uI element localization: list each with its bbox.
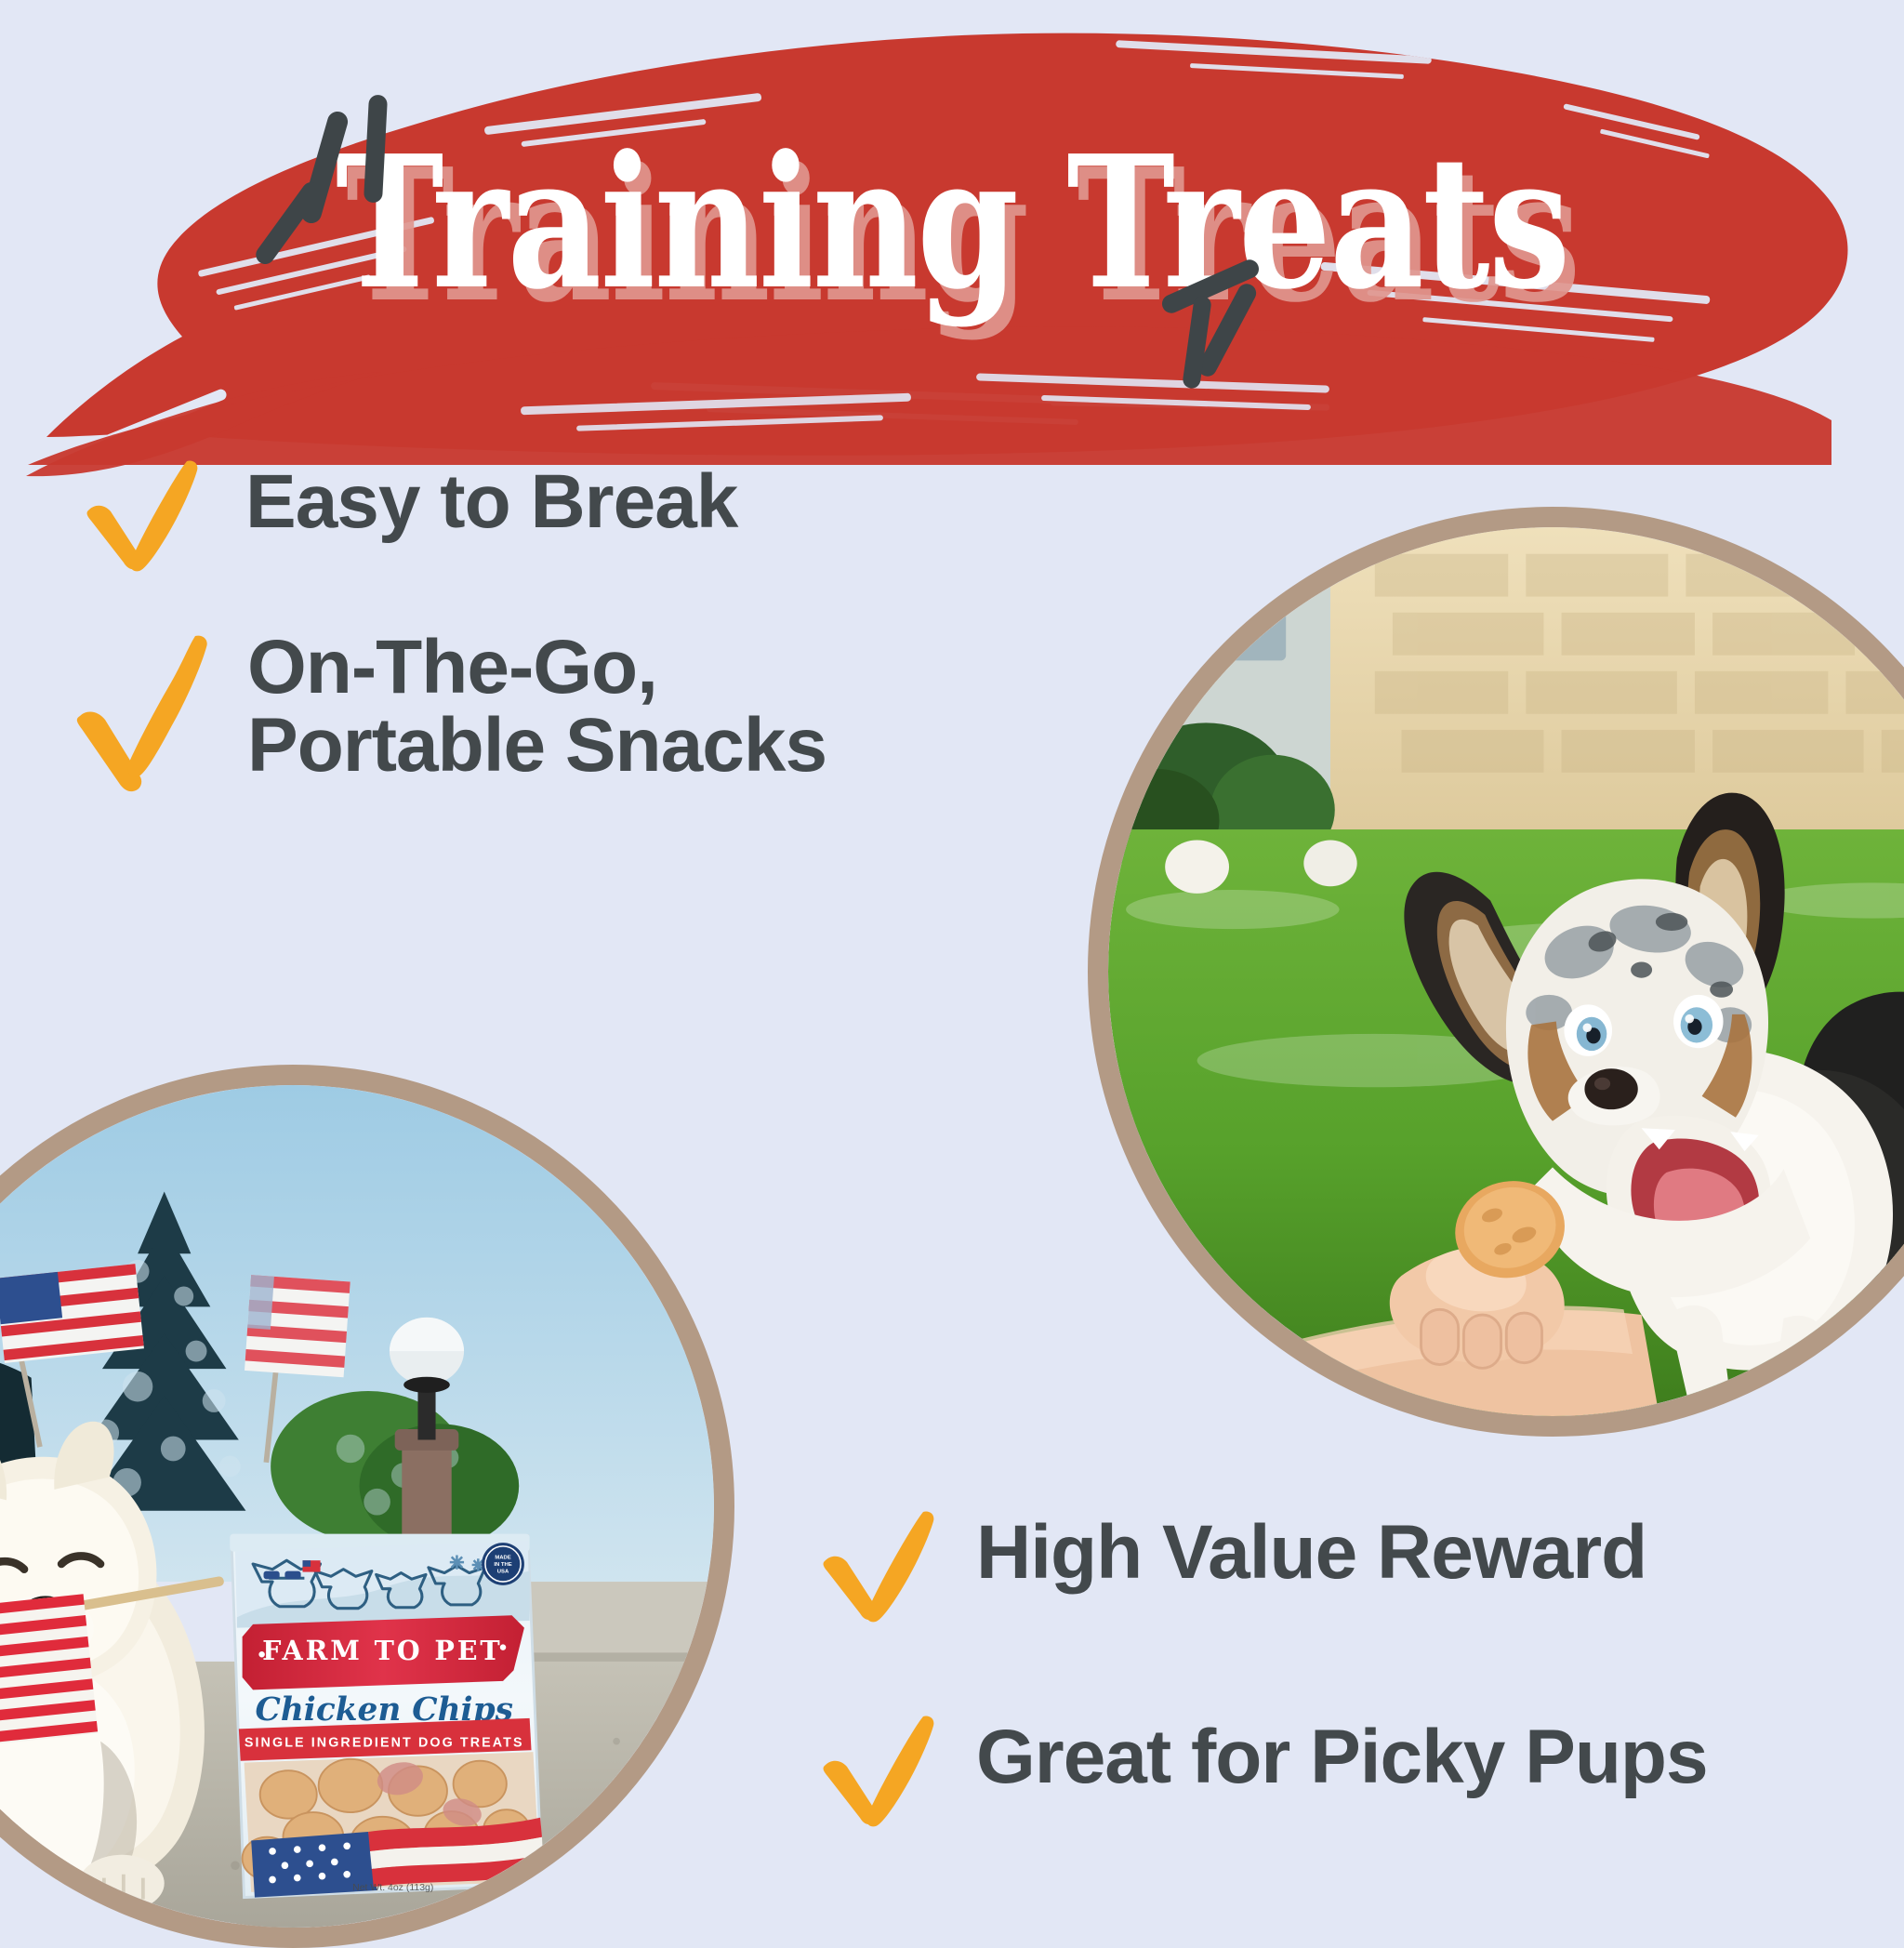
benefit-label: On-The-Go, Portable Snacks: [247, 629, 826, 784]
benefit-label: High Value Reward: [976, 1514, 1646, 1592]
benefit-row-high-value-reward: High Value Reward: [818, 1497, 1646, 1637]
made-in-usa-badge-line2: IN THE: [494, 1562, 511, 1568]
made-in-usa-badge-line3: USA: [497, 1570, 509, 1575]
photo-pomeranian-with-package: MADE IN THE USA FARM TO PET Chicken Chip…: [0, 1065, 734, 1948]
header-banner: Training Treats: [0, 0, 1904, 493]
benefit-row-easy-to-break: Easy to Break: [82, 446, 737, 586]
benefit-row-on-the-go: On-The-Go, Portable Snacks: [73, 623, 826, 809]
check-icon: [818, 1702, 939, 1841]
check-icon: [818, 1497, 939, 1637]
benefit-row-picky-pups: Great for Picky Pups: [818, 1702, 1708, 1841]
benefit-label: Easy to Break: [245, 463, 737, 541]
net-weight: Net Wt. 4oz (113g): [352, 1883, 433, 1893]
photo-inner: MADE IN THE USA FARM TO PET Chicken Chip…: [0, 1085, 714, 1928]
product-tagline: SINGLE INGREDIENT DOG TREATS: [245, 1735, 524, 1750]
photo-inner: [1108, 527, 1904, 1416]
check-icon: [82, 446, 203, 586]
page-title: Training Treats: [336, 139, 1569, 307]
benefit-label: Great for Picky Pups: [976, 1718, 1708, 1796]
check-icon: [73, 623, 210, 809]
brand-name: FARM TO PET: [262, 1635, 502, 1666]
made-in-usa-badge-line1: MADE: [495, 1555, 510, 1560]
photo-dog-catching-treat: [1088, 507, 1904, 1437]
